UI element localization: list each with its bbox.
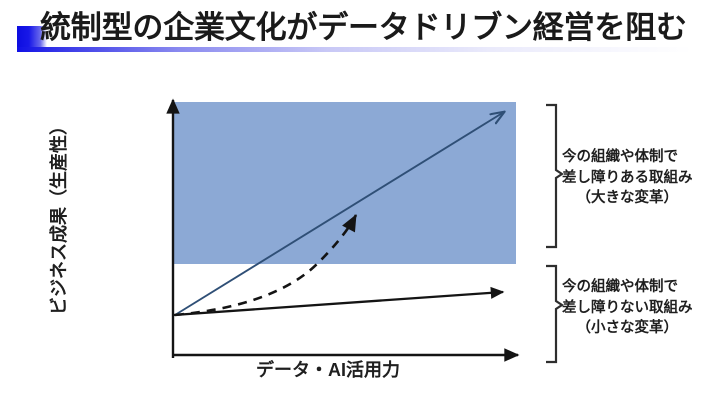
chart-figure: ビジネス成果（生産性） データ・AI活用力 今の組織や体制で 差し障りある取組み… <box>0 58 720 403</box>
title-underline-bar <box>17 47 692 52</box>
chart-svg <box>0 58 720 403</box>
x-axis-label: データ・AI活用力 <box>178 356 478 382</box>
annotation-upper: 今の組織や体制で 差し障りある取組み （大きな変革） <box>562 147 693 209</box>
series-small-change-line <box>174 292 503 315</box>
annotation-lower-line-3: （小さな変革） <box>562 318 693 339</box>
slide-canvas: 統制型の企業文化がデータドリブン経営を阻む <box>0 0 720 403</box>
annotation-upper-line-2: 差し障りある取組み <box>562 168 693 189</box>
bracket-lower <box>546 266 562 362</box>
y-axis-label: ビジネス成果（生産性） <box>45 101 71 331</box>
bracket-upper <box>546 105 562 247</box>
annotation-lower-line-1: 今の組織や体制で <box>562 277 693 298</box>
annotation-upper-line-1: 今の組織や体制で <box>562 147 693 168</box>
annotation-lower: 今の組織や体制で 差し障りない取組み （小さな変革） <box>562 277 693 339</box>
page-title: 統制型の企業文化がデータドリブン経営を阻む <box>40 8 712 48</box>
slide-title-block: 統制型の企業文化がデータドリブン経営を阻む <box>0 4 720 58</box>
shaded-region-upper <box>173 102 516 264</box>
annotation-lower-line-2: 差し障りない取組み <box>562 298 693 319</box>
annotation-upper-line-3: （大きな変革） <box>562 188 693 209</box>
